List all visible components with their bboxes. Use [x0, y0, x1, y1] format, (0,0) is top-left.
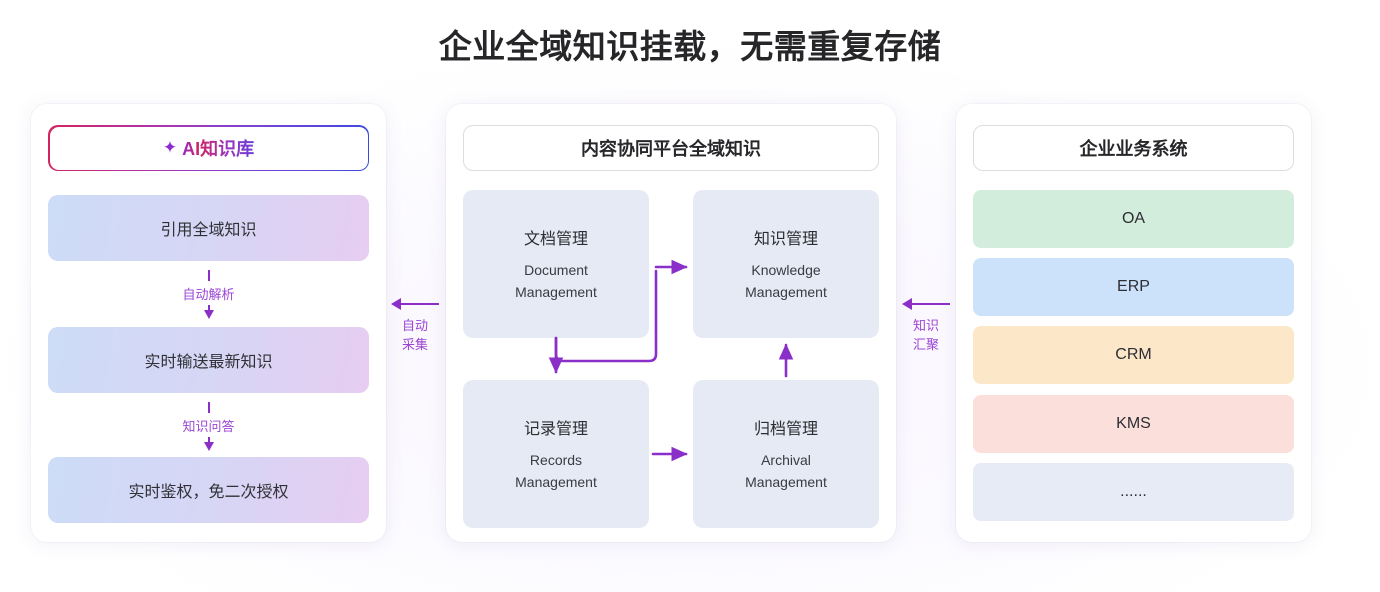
system-card-label: ERP	[1117, 278, 1150, 296]
flow-card-quote-global-knowledge[interactable]: 引用全域知识	[48, 195, 369, 261]
box-document-management[interactable]: 文档管理 Document Management	[463, 190, 649, 338]
box-en-line2: Management	[745, 284, 827, 300]
diagram-stage: ✦ AI知识库 引用全域知识 自动解析 实时输送最新知识 知识问答 实时鉴权，免…	[0, 104, 1380, 550]
box-en-line2: Management	[515, 474, 597, 490]
box-zh-label: 文档管理	[524, 225, 588, 249]
arrow-head	[391, 298, 401, 310]
box-en-label: Knowledge Management	[745, 260, 827, 303]
enterprise-systems-label: 企业业务系统	[1080, 135, 1188, 161]
enterprise-systems-header[interactable]: 企业业务系统	[973, 125, 1294, 171]
system-card-crm[interactable]: CRM	[973, 326, 1294, 384]
flow-card-label: 实时鉴权，免二次授权	[128, 478, 288, 502]
box-records-management[interactable]: 记录管理 Records Management	[463, 380, 649, 528]
connector-label: 自动 采集	[402, 317, 428, 355]
panel-content-collaboration: 内容协同平台全域知识 文档管理 Document Management 知识管理…	[446, 104, 896, 542]
arrow-left-icon	[391, 298, 439, 310]
box-en-line1: Document	[524, 262, 588, 278]
sparkle-icon: ✦	[163, 139, 177, 156]
system-card-oa[interactable]: OA	[973, 190, 1294, 248]
system-card-label: KMS	[1116, 415, 1151, 433]
box-en-label: Archival Management	[745, 450, 827, 493]
arrow-bar	[401, 303, 439, 306]
ai-knowledge-base-label: AI知识库	[182, 135, 254, 161]
box-en-line2: Management	[745, 474, 827, 490]
system-card-erp[interactable]: ERP	[973, 258, 1294, 316]
system-card-kms[interactable]: KMS	[973, 395, 1294, 453]
flow-card-realtime-latest-knowledge[interactable]: 实时输送最新知识	[48, 327, 369, 393]
box-zh-label: 知识管理	[754, 225, 818, 249]
arrow-bar	[912, 303, 950, 306]
system-card-label: ......	[1120, 483, 1147, 501]
page-title: 企业全域知识挂载，无需重复存储	[0, 20, 1380, 68]
link-tick	[208, 270, 210, 281]
box-zh-label: 归档管理	[754, 415, 818, 439]
connector-knowledge-aggregate: 知识 汇聚	[896, 298, 956, 355]
arrow-down-icon	[204, 310, 214, 319]
flow-card-label: 引用全域知识	[160, 216, 256, 240]
box-en-label: Document Management	[515, 260, 597, 303]
link-tick	[208, 402, 210, 413]
flow-link-auto-parse: 自动解析	[48, 261, 369, 327]
connector-label: 知识 汇聚	[913, 317, 939, 355]
box-en-line2: Management	[515, 284, 597, 300]
flow-card-label: 实时输送最新知识	[144, 348, 272, 372]
connector-label-line1: 自动	[402, 318, 428, 333]
arrow-head	[902, 298, 912, 310]
flow-card-realtime-auth[interactable]: 实时鉴权，免二次授权	[48, 457, 369, 523]
box-en-line1: Records	[530, 452, 582, 468]
system-card-label: OA	[1122, 210, 1145, 228]
box-archival-management[interactable]: 归档管理 Archival Management	[693, 380, 879, 528]
panel-ai-knowledge-base: ✦ AI知识库 引用全域知识 自动解析 实时输送最新知识 知识问答 实时鉴权，免…	[31, 104, 386, 542]
box-zh-label: 记录管理	[524, 415, 588, 439]
content-collaboration-header[interactable]: 内容协同平台全域知识	[463, 125, 879, 171]
connector-label-line2: 采集	[402, 337, 428, 352]
arrow-down-icon	[204, 442, 214, 451]
connector-label-line1: 知识	[913, 318, 939, 333]
box-en-label: Records Management	[515, 450, 597, 493]
box-en-line1: Knowledge	[751, 262, 820, 278]
flow-link-label: 知识问答	[182, 416, 234, 435]
system-card-label: CRM	[1115, 346, 1151, 364]
panel-enterprise-systems: 企业业务系统 OA ERP CRM KMS ......	[956, 104, 1311, 542]
connector-auto-collect: 自动 采集	[385, 298, 445, 355]
ai-knowledge-base-header[interactable]: ✦ AI知识库	[48, 125, 369, 171]
connector-label-line2: 汇聚	[913, 337, 939, 352]
flow-link-label: 自动解析	[182, 284, 234, 303]
flow-link-knowledge-qa: 知识问答	[48, 393, 369, 459]
content-collaboration-label: 内容协同平台全域知识	[581, 135, 761, 161]
system-card-more[interactable]: ......	[973, 463, 1294, 521]
box-en-line1: Archival	[761, 452, 811, 468]
arrow-left-icon	[902, 298, 950, 310]
box-knowledge-management[interactable]: 知识管理 Knowledge Management	[693, 190, 879, 338]
